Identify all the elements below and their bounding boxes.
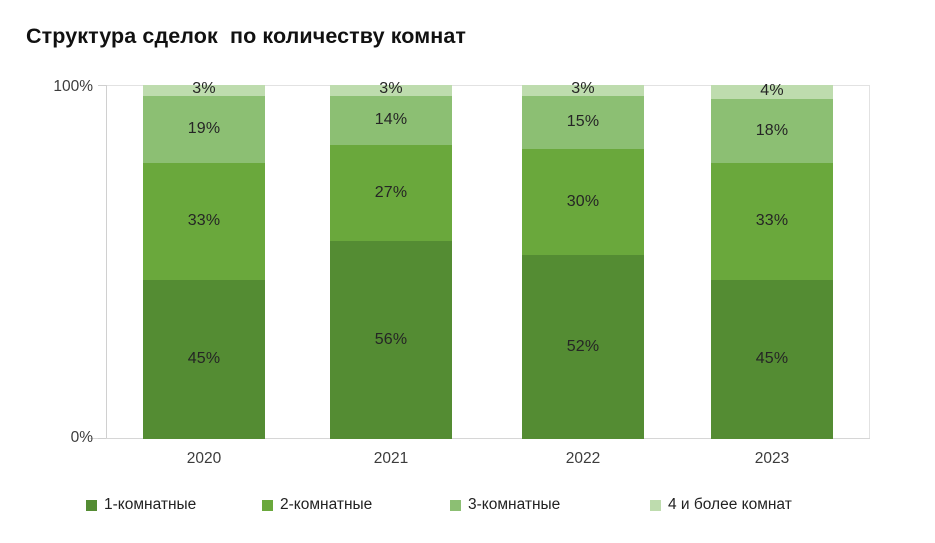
- bar-segment[interactable]: 14%: [330, 96, 452, 146]
- bar-segment-value-label: 15%: [567, 114, 600, 130]
- chart-legend: 1-комнатные2-комнатные3-комнатные4 и бол…: [0, 494, 935, 524]
- legend-item-3[interactable]: 3-комнатные: [450, 494, 560, 516]
- bar-segment-value-label: 4%: [760, 83, 784, 99]
- bar-column-2023[interactable]: 4%18%33%45%: [711, 85, 833, 439]
- bar-segment[interactable]: 45%: [143, 280, 265, 439]
- legend-item-4[interactable]: 4 и более комнат: [650, 494, 792, 516]
- y-axis-label-100: 100%: [33, 78, 93, 96]
- bar-segment[interactable]: 4%: [711, 85, 833, 99]
- bar-column-2022[interactable]: 3%15%30%52%: [522, 85, 644, 439]
- bar-segment-value-label: 30%: [567, 194, 600, 210]
- legend-swatch-icon: [450, 500, 461, 511]
- x-axis-label-2020: 2020: [154, 450, 254, 468]
- legend-swatch-icon: [650, 500, 661, 511]
- bar-segment-value-label: 45%: [756, 351, 789, 367]
- bar-segment[interactable]: 30%: [522, 149, 644, 255]
- bar-segment[interactable]: 45%: [711, 280, 833, 439]
- bar-segment[interactable]: 3%: [143, 85, 265, 96]
- bar-segment[interactable]: 27%: [330, 145, 452, 241]
- bar-stack: 4%18%33%45%: [711, 85, 833, 439]
- bar-column-2021[interactable]: 3%14%27%56%: [330, 85, 452, 439]
- bar-segment-value-label: 19%: [188, 121, 221, 137]
- x-axis-label-2021: 2021: [341, 450, 441, 468]
- legend-item-label: 3-комнатные: [468, 496, 560, 514]
- bar-segment[interactable]: 33%: [711, 163, 833, 280]
- bar-stack: 3%14%27%56%: [330, 85, 452, 439]
- bar-segment-value-label: 18%: [756, 123, 789, 139]
- bar-segment[interactable]: 56%: [330, 241, 452, 439]
- bar-segment[interactable]: 52%: [522, 255, 644, 439]
- bar-segment[interactable]: 3%: [330, 85, 452, 96]
- bar-stack: 3%15%30%52%: [522, 85, 644, 439]
- bar-segment-value-label: 14%: [375, 112, 408, 128]
- legend-item-2[interactable]: 2-комнатные: [262, 494, 372, 516]
- legend-item-label: 4 и более комнат: [668, 496, 792, 514]
- bar-segment-value-label: 33%: [756, 213, 789, 229]
- legend-swatch-icon: [262, 500, 273, 511]
- legend-item-label: 1-комнатные: [104, 496, 196, 514]
- y-axis-tick-bottom: [98, 438, 106, 439]
- bar-segment-value-label: 45%: [188, 351, 221, 367]
- bar-segment[interactable]: 15%: [522, 96, 644, 149]
- bar-segment[interactable]: 18%: [711, 99, 833, 163]
- bar-segment-value-label: 56%: [375, 332, 408, 348]
- bar-segment-value-label: 33%: [188, 213, 221, 229]
- legend-swatch-icon: [86, 500, 97, 511]
- bar-column-2020[interactable]: 3%19%33%45%: [143, 85, 265, 439]
- x-axis-label-2022: 2022: [533, 450, 633, 468]
- y-axis-tick-top: [98, 85, 106, 86]
- bar-stack: 3%19%33%45%: [143, 85, 265, 439]
- y-axis-label-0: 0%: [33, 429, 93, 447]
- x-axis-label-2023: 2023: [722, 450, 822, 468]
- chart-container: Структура сделок по количеству комнат 10…: [0, 0, 935, 543]
- bar-segment-value-label: 52%: [567, 339, 600, 355]
- bar-segment[interactable]: 3%: [522, 85, 644, 96]
- bar-segment-value-label: 27%: [375, 185, 408, 201]
- bar-segment[interactable]: 19%: [143, 96, 265, 163]
- bars-layer: 3%19%33%45%3%14%27%56%3%15%30%52%4%18%33…: [106, 85, 870, 439]
- legend-item-1[interactable]: 1-комнатные: [86, 494, 196, 516]
- legend-item-label: 2-комнатные: [280, 496, 372, 514]
- chart-title: Структура сделок по количеству комнат: [26, 24, 466, 49]
- bar-segment[interactable]: 33%: [143, 163, 265, 280]
